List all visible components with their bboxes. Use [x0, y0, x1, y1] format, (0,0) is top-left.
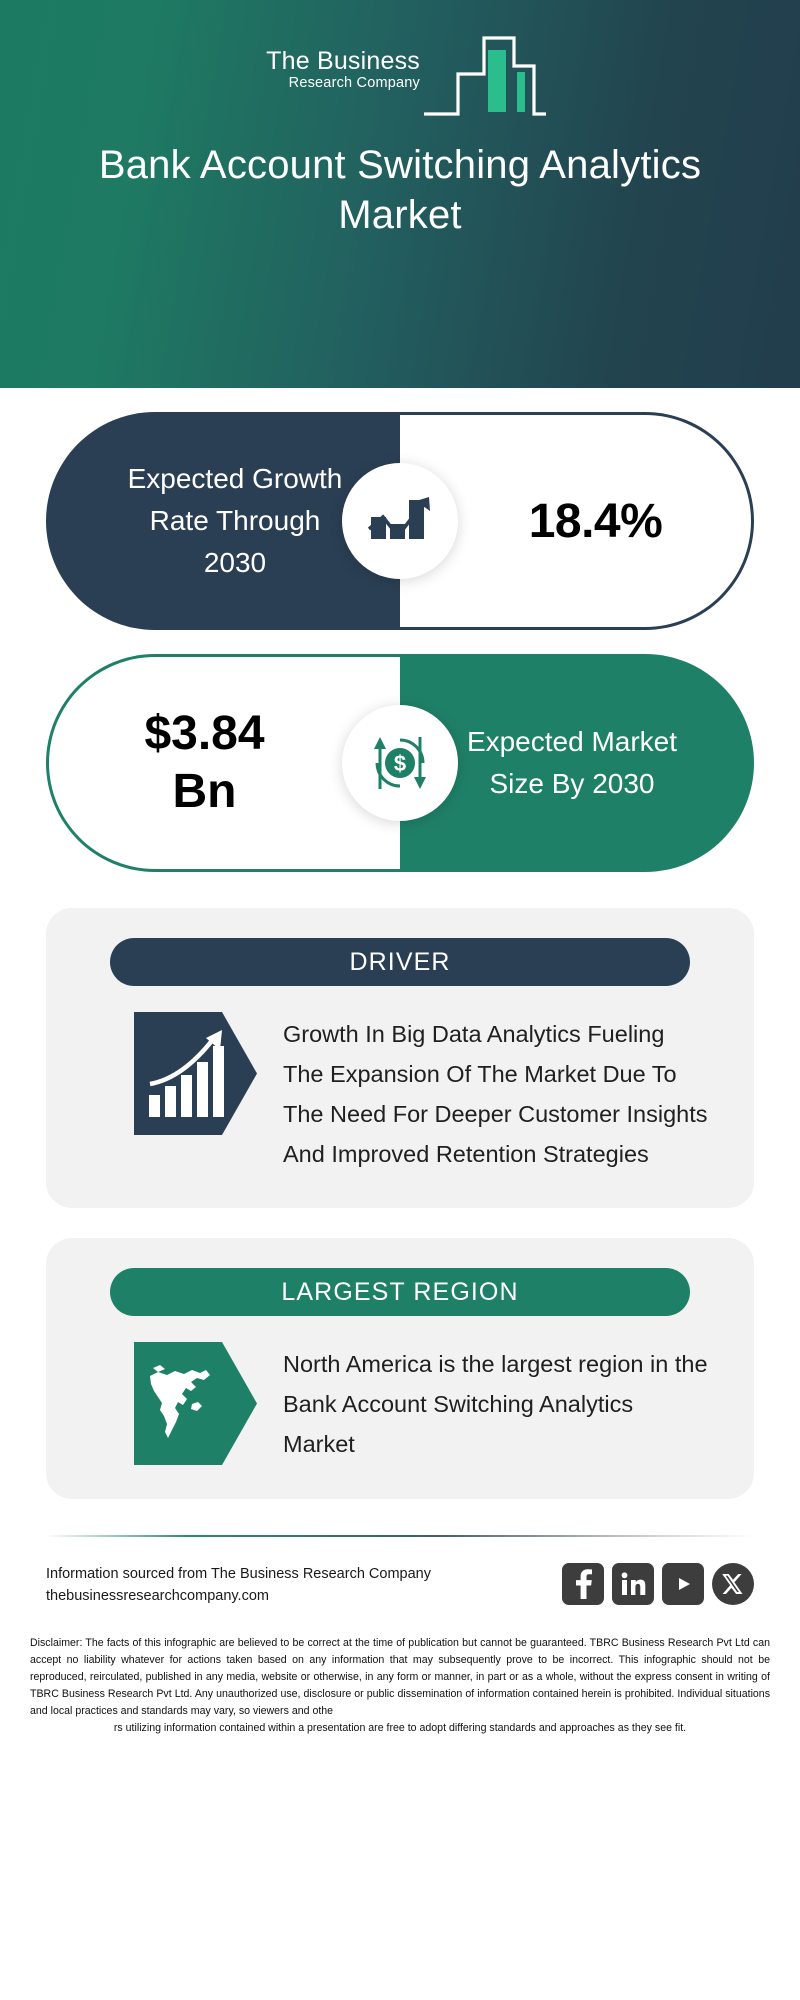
growth-rate-value: 18.4%	[489, 494, 663, 549]
growth-chart-arrow-icon-wrapper	[342, 463, 458, 579]
driver-heading-pill: DRIVER	[110, 938, 690, 986]
market-size-value-line1: $3.84	[144, 707, 264, 760]
disclaimer-text: Disclaimer: The facts of this infographi…	[30, 1635, 770, 1737]
logo-line-1: The Business	[215, 48, 420, 75]
page-title: Bank Account Switching Analytics Market	[0, 140, 800, 240]
header-banner: The Business Research Company Bank Accou…	[0, 0, 800, 388]
footer-source: Information sourced from The Business Re…	[46, 1563, 431, 1607]
north-america-map-icon	[134, 1342, 257, 1465]
largest-region-body-text: North America is the largest region in t…	[283, 1342, 710, 1464]
largest-region-body-row: North America is the largest region in t…	[46, 1316, 754, 1465]
footer-top: Information sourced from The Business Re…	[46, 1537, 754, 1607]
largest-region-heading-pill: LARGEST REGION	[110, 1268, 690, 1316]
driver-body-row: Growth In Big Data Analytics Fueling The…	[46, 986, 754, 1174]
spacer	[0, 388, 800, 412]
driver-body-text: Growth In Big Data Analytics Fueling The…	[283, 1012, 710, 1174]
dollar-cycle-icon: $	[366, 729, 434, 797]
footer-source-line1: Information sourced from The Business Re…	[46, 1563, 431, 1585]
stat-card-market-size: $3.84 Bn Expected Market Size By 2030 $	[0, 654, 800, 872]
x-twitter-icon[interactable]	[712, 1563, 754, 1605]
spacer	[0, 630, 800, 654]
facebook-icon[interactable]	[562, 1563, 604, 1605]
market-size-value: $3.84 Bn	[144, 705, 304, 821]
driver-heading: DRIVER	[349, 948, 450, 977]
spacer	[0, 872, 800, 908]
svg-text:$: $	[394, 751, 406, 776]
linkedin-icon[interactable]	[612, 1563, 654, 1605]
largest-region-panel: LARGEST REGION North America is the larg…	[46, 1238, 754, 1499]
stat-card-growth-rate: Expected Growth Rate Through 2030 18.4%	[0, 412, 800, 630]
social-links	[562, 1563, 754, 1605]
logo-wordmark: The Business Research Company	[215, 48, 420, 92]
disclaimer-last-line: rs utilizing information contained withi…	[30, 1720, 770, 1737]
growth-bar-chart-arrow-icon-wrapper	[134, 1012, 257, 1135]
dollar-cycle-icon-wrapper: $	[342, 705, 458, 821]
youtube-icon[interactable]	[662, 1563, 704, 1605]
footer-source-line2[interactable]: thebusinessresearchcompany.com	[46, 1585, 431, 1607]
driver-panel: DRIVER Growth In Big Data Analytics Fuel…	[46, 908, 754, 1208]
growth-bar-chart-arrow-icon	[134, 1012, 257, 1135]
market-size-value-line2: Bn	[173, 765, 237, 818]
market-size-label: Expected Market Size By 2030	[452, 721, 702, 805]
bar-chart-logo-icon	[418, 28, 548, 118]
growth-chart-arrow-icon	[367, 491, 433, 551]
disclaimer-main: Disclaimer: The facts of this infographi…	[30, 1637, 770, 1717]
north-america-map-icon-wrapper	[134, 1342, 257, 1465]
spacer	[0, 1499, 800, 1535]
growth-rate-label: Expected Growth Rate Through 2030	[96, 458, 351, 584]
spacer	[0, 1208, 800, 1238]
logo-line-2: Research Company	[215, 75, 420, 92]
largest-region-heading: LARGEST REGION	[281, 1278, 518, 1307]
company-logo: The Business Research Company	[215, 18, 545, 118]
